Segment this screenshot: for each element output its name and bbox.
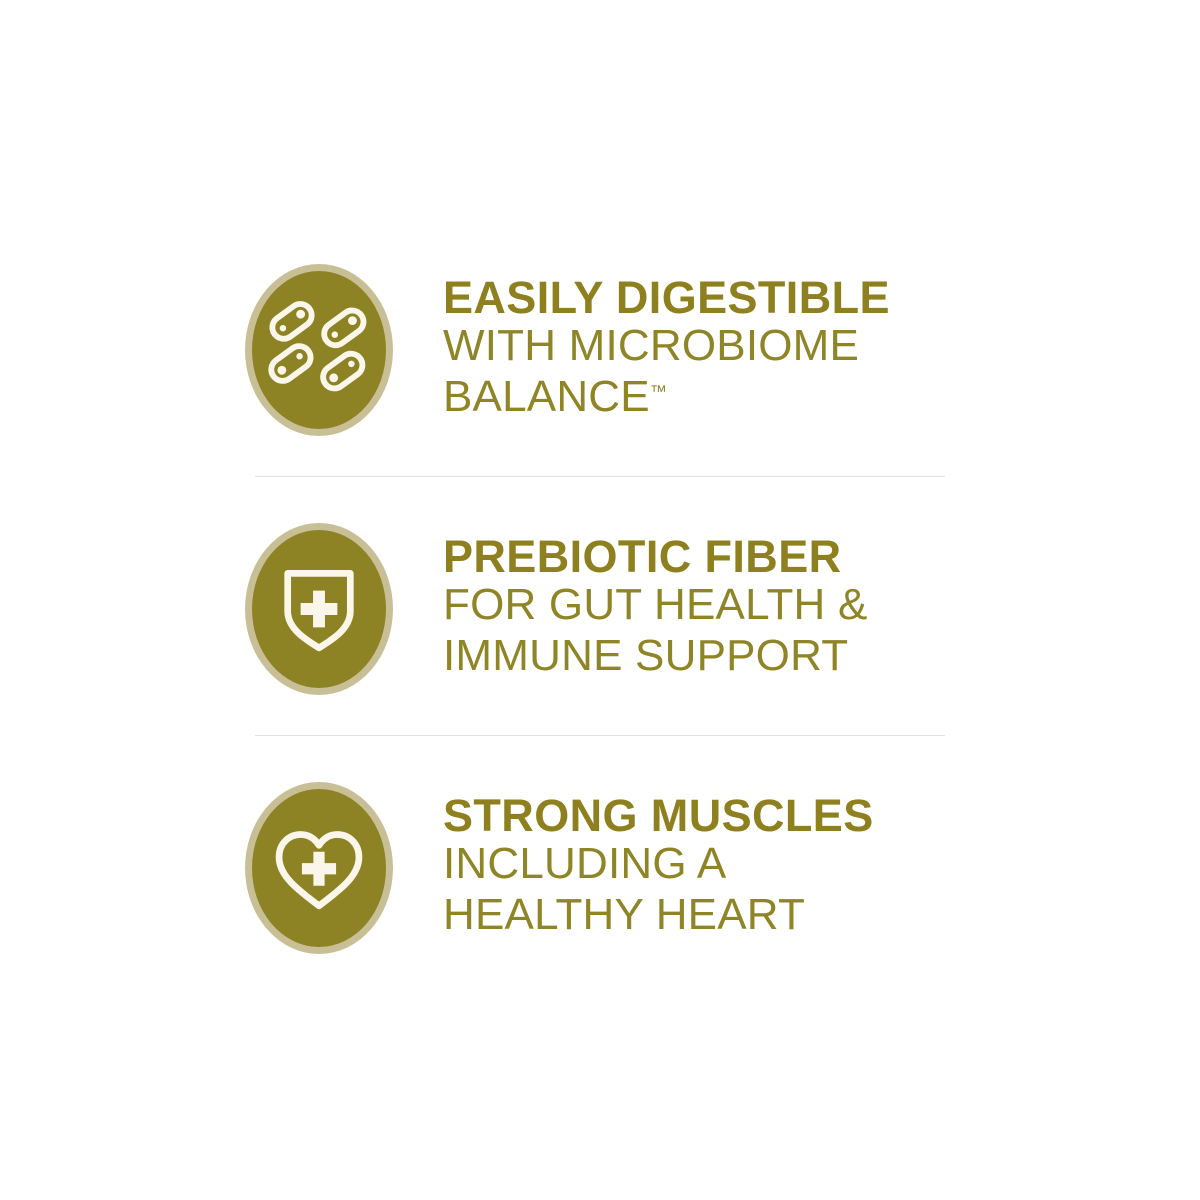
benefit-subline-2: HEALTHY HEART	[443, 890, 874, 940]
benefit-row: PREBIOTIC FIBER FOR GUT HEALTH & IMMUNE …	[0, 521, 1200, 697]
benefit-icon-medallion	[245, 523, 393, 695]
benefit-subline-2-text: BALANCE	[443, 372, 650, 421]
heart-plus-icon	[265, 814, 373, 922]
benefit-subline-1: FOR GUT HEALTH &	[443, 580, 868, 630]
benefit-list: EASILY DIGESTIBLE WITH MICROBIOME BALANC…	[0, 244, 1200, 956]
benefit-text-block: PREBIOTIC FIBER FOR GUT HEALTH & IMMUNE …	[393, 533, 868, 685]
benefit-headline: STRONG MUSCLES	[443, 792, 874, 839]
benefit-subline-2: BALANCE™	[443, 372, 890, 422]
benefit-headline: EASILY DIGESTIBLE	[443, 274, 890, 321]
probiotic-capsules-icon	[265, 296, 373, 404]
benefit-subline-1: WITH MICROBIOME	[443, 321, 890, 371]
benefit-icon-medallion	[245, 264, 393, 436]
trademark-symbol: ™	[650, 382, 667, 401]
benefit-subline-2: IMMUNE SUPPORT	[443, 631, 868, 681]
row-spacer	[0, 697, 1200, 735]
benefit-row: STRONG MUSCLES INCLUDING A HEALTHY HEART	[0, 780, 1200, 956]
benefit-icon-medallion	[245, 782, 393, 954]
benefit-text-block: STRONG MUSCLES INCLUDING A HEALTHY HEART	[393, 792, 874, 944]
benefit-text-block: EASILY DIGESTIBLE WITH MICROBIOME BALANC…	[393, 274, 890, 426]
benefit-subline-1: INCLUDING A	[443, 839, 874, 889]
row-spacer	[0, 477, 1200, 521]
benefit-row: EASILY DIGESTIBLE WITH MICROBIOME BALANC…	[0, 262, 1200, 438]
row-spacer	[0, 736, 1200, 780]
row-spacer	[0, 438, 1200, 476]
benefit-headline: PREBIOTIC FIBER	[443, 533, 868, 580]
shield-plus-icon	[265, 555, 373, 663]
benefits-panel: EASILY DIGESTIBLE WITH MICROBIOME BALANC…	[0, 0, 1200, 1200]
